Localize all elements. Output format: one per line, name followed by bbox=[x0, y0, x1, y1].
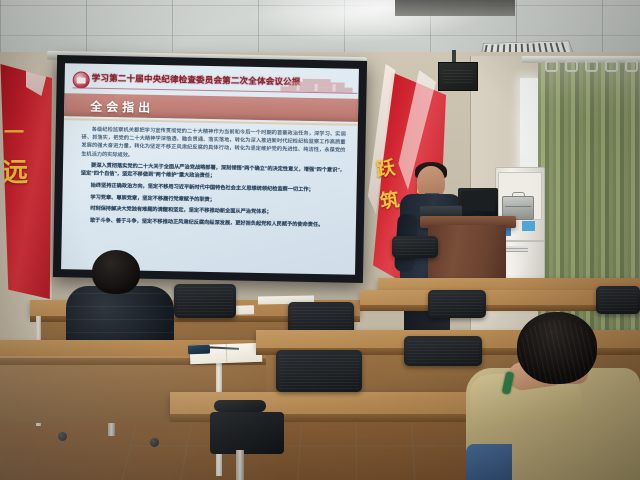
screen-surface: 学习第二十届中央纪律检查委员会第二次全体会议公报 全会指出 bbox=[61, 63, 359, 275]
slide-paragraph: 学习党章、尊崇党章，坚定不移履行党章赋予的职责； bbox=[80, 193, 344, 206]
chair-seat bbox=[210, 412, 284, 454]
curtain-ring bbox=[565, 60, 578, 72]
left-red-vertical-banner: 一 远 bbox=[0, 64, 52, 299]
conference-room-photo: 学习第二十届中央纪律检查委员会第二次全体会议公报 全会指出 bbox=[0, 0, 640, 480]
slide-paragraph: 要深入贯彻落实党的二十大关于全面从严治党战略部署，深刻领悟"两个确立"的决定性意… bbox=[81, 162, 345, 183]
right-banner-char-1: 跃 bbox=[374, 153, 397, 182]
slide-section-band: 全会指出 bbox=[64, 93, 358, 122]
slide-paragraph: 敢于斗争、善于斗争，坚定不移推动正风肃纪反腐向纵深发展，更好担负起党和人民赋予的… bbox=[80, 216, 344, 229]
slide-title: 学习第二十届中央纪律检查委员会第二次全体会议公报 bbox=[92, 71, 301, 89]
pull-down-projection-screen: 学习第二十届中央纪律检查委员会第二次全体会议公报 全会指出 bbox=[53, 55, 367, 283]
slide-header: 学习第二十届中央纪律检查委员会第二次全体会议公报 bbox=[64, 68, 358, 97]
tiananmen-gate-line-art-icon bbox=[281, 78, 353, 92]
right-banner-char-2: 筑 bbox=[378, 185, 401, 214]
attendee-front-left-head bbox=[92, 250, 140, 294]
left-banner-char-1: 一 bbox=[4, 116, 24, 145]
chair-backrest bbox=[404, 336, 482, 366]
slide-paragraph: 始终坚持正确政治方向，坚定不移用习近平新时代中国特色社会主义思想统领纪检监察一切… bbox=[81, 182, 345, 195]
left-banner-char-2: 远 bbox=[2, 152, 28, 189]
chair-backrest bbox=[276, 350, 362, 392]
ceiling-dark-recess bbox=[395, 0, 515, 16]
slide-paragraph: 各级纪检监察机关都把学习宣传贯彻党的二十大精神作为当前和今后一个时期的首要政治任… bbox=[81, 126, 346, 164]
presentation-slide: 学习第二十届中央纪律检查委员会第二次全体会议公报 全会指出 bbox=[61, 63, 359, 275]
smartphone bbox=[188, 345, 210, 355]
slide-section-heading: 全会指出 bbox=[90, 98, 154, 116]
curtain-ring bbox=[585, 60, 598, 72]
curtain-rod bbox=[522, 56, 640, 63]
slide-body-text: 各级纪检监察机关都把学习宣传贯彻党的二十大精神作为当前和今后一个时期的首要政治任… bbox=[80, 126, 346, 237]
chair-caster bbox=[58, 432, 67, 441]
ac-label-sticker-2 bbox=[522, 221, 535, 231]
chair-caster bbox=[150, 438, 159, 447]
party-emblem-icon bbox=[73, 71, 90, 88]
chair-armrest bbox=[214, 400, 266, 412]
curtain-ring bbox=[625, 60, 638, 72]
chair-backrest bbox=[596, 286, 640, 314]
chair-backrest bbox=[174, 284, 236, 318]
chair-backrest bbox=[428, 290, 486, 318]
curtain-ring bbox=[605, 60, 618, 72]
hair-strand-detail bbox=[517, 320, 597, 390]
curtain-ring bbox=[545, 60, 558, 72]
slide-paragraph: 时刻保持解决大党独有难题的清醒和坚定，坚定不移推动新全面从严治党体系； bbox=[80, 205, 344, 218]
podium-monitor bbox=[458, 188, 498, 218]
chair-post bbox=[236, 450, 244, 480]
chair-backrest bbox=[392, 236, 438, 258]
attendee-front-right-bag bbox=[466, 444, 512, 480]
